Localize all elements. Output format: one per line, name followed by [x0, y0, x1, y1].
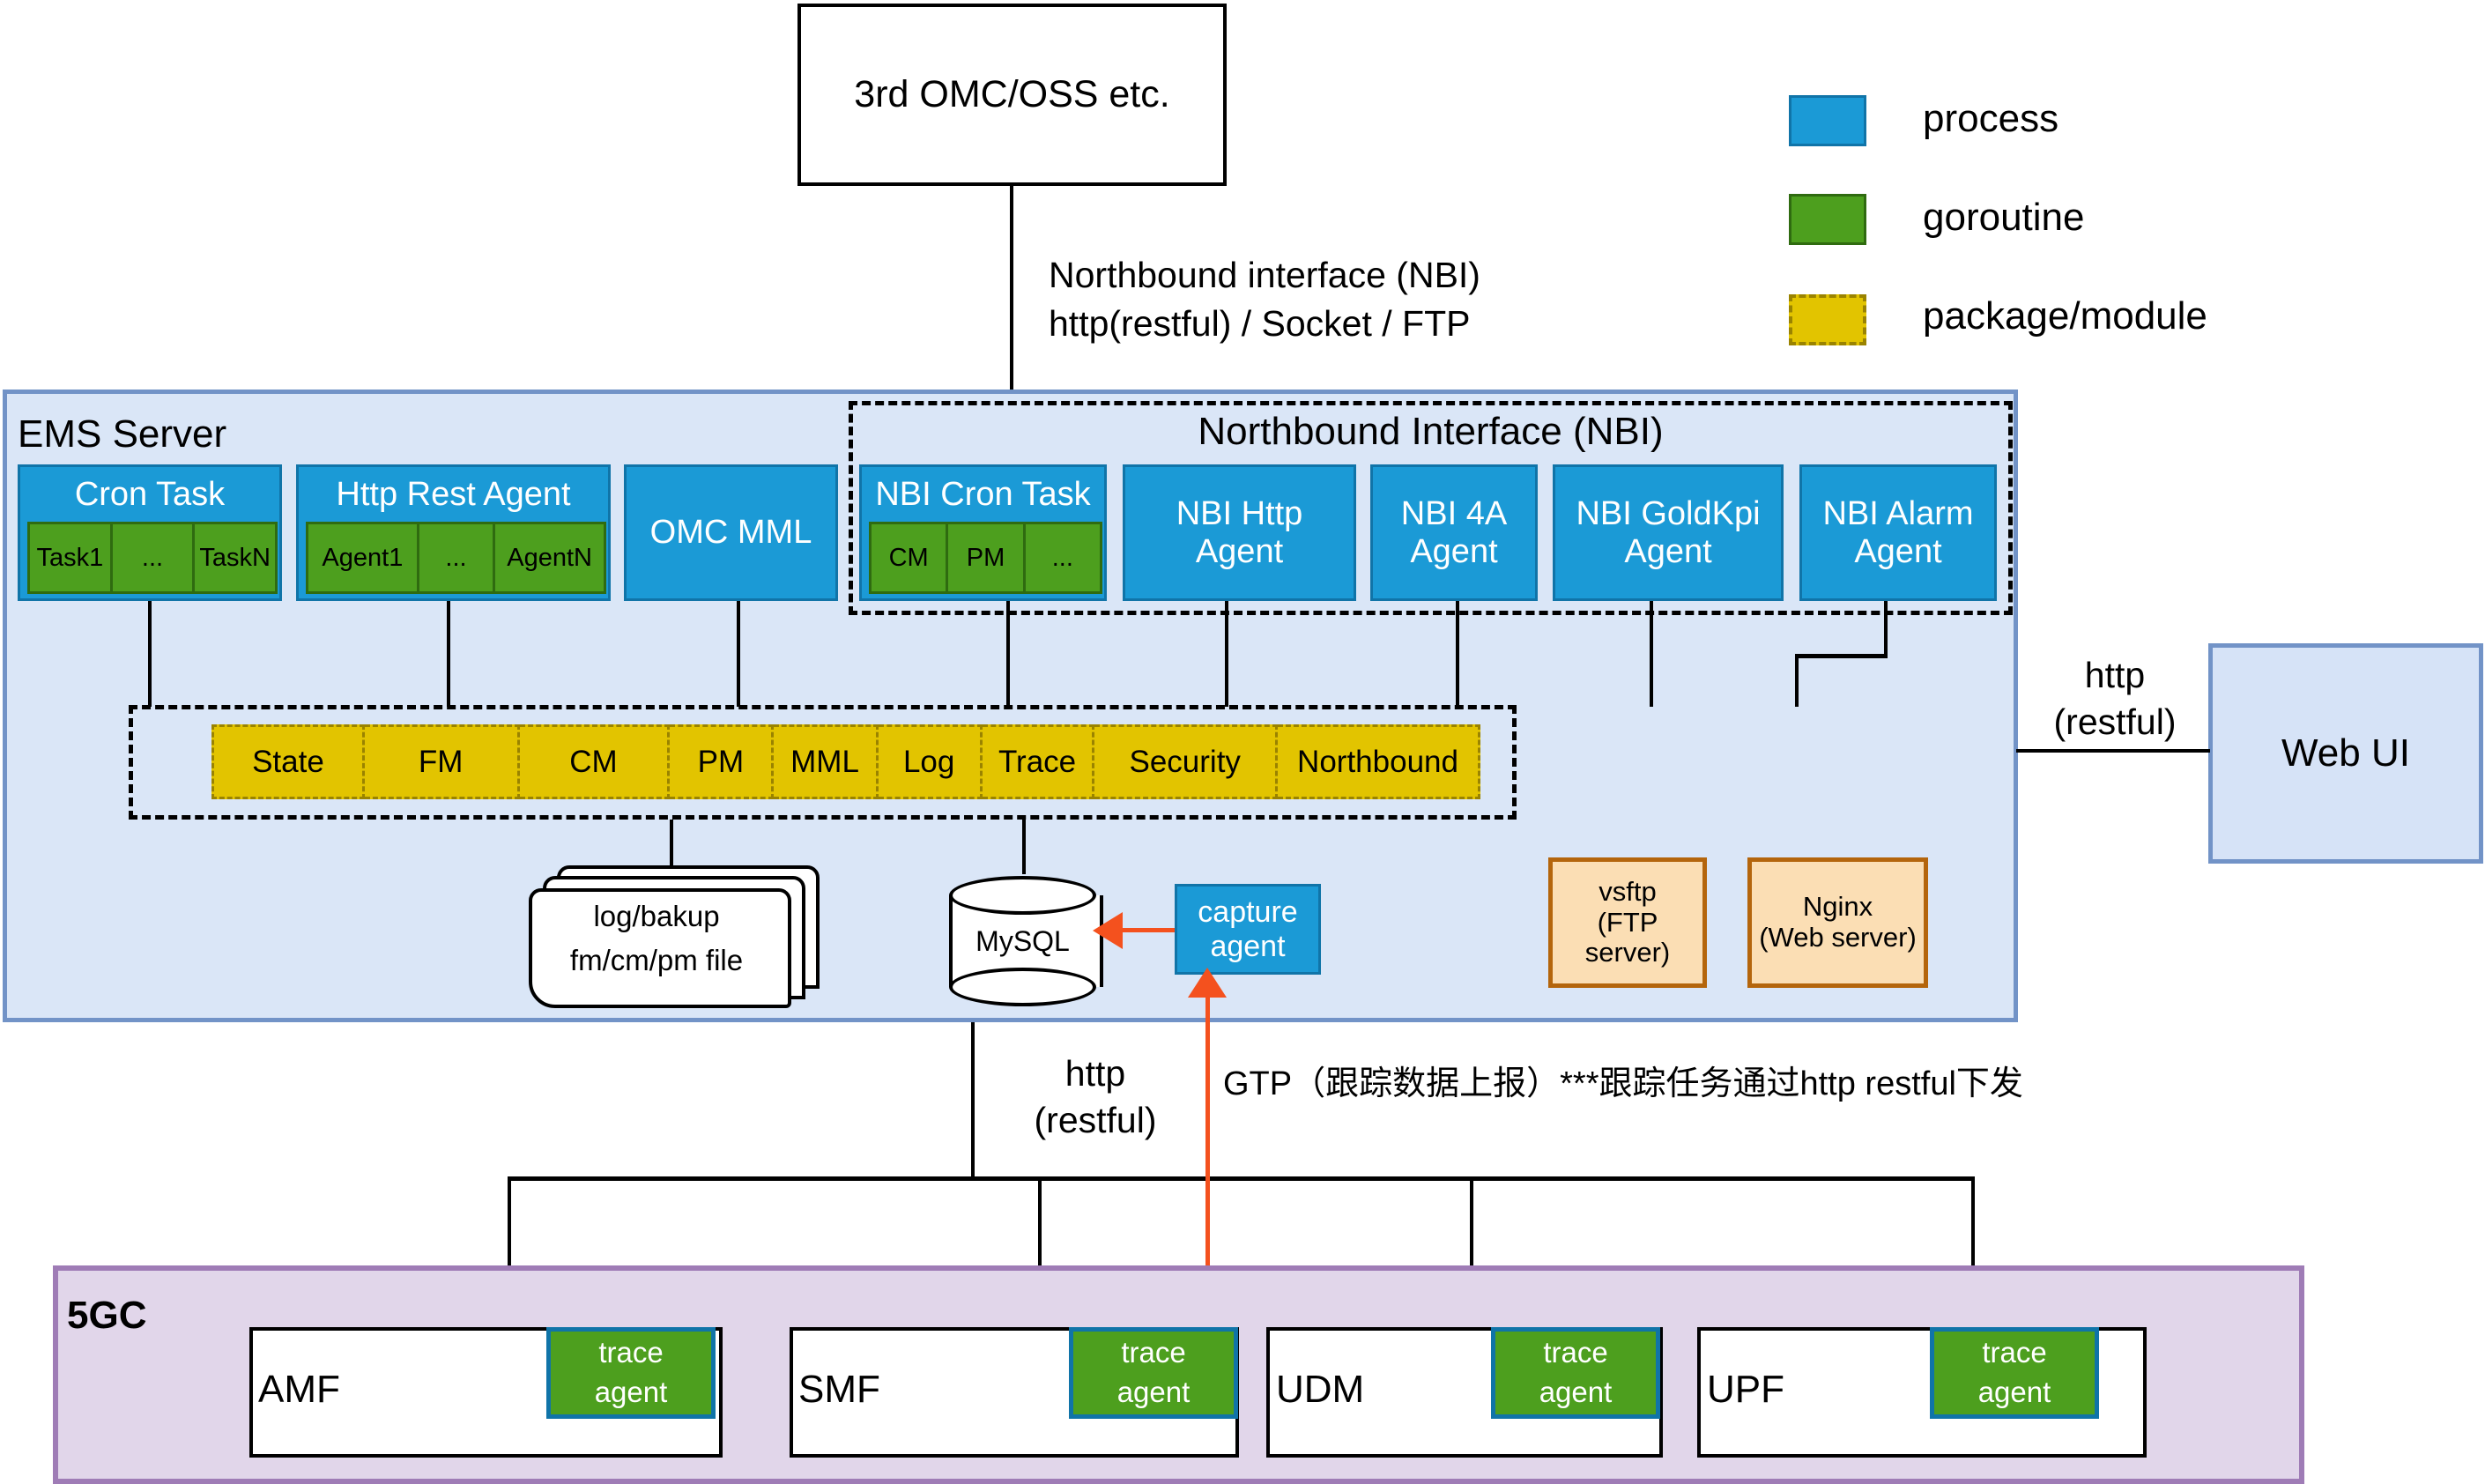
process-nbi-cron-task[interactable]: NBI Cron Task CM PM ...	[859, 464, 1107, 601]
connector-nbi-cron-task	[1006, 601, 1010, 707]
module-northbound[interactable]: Northbound	[1278, 724, 1480, 799]
trace-agent-amf-label: trace agent	[595, 1333, 668, 1412]
connector-nbi-http-agent	[1225, 601, 1228, 707]
trace-agent-amf[interactable]: trace agent	[546, 1327, 716, 1419]
trace-flow-arrowhead	[1188, 968, 1227, 998]
goroutine-item[interactable]: Task1	[27, 522, 113, 594]
server-nginx-role: (Web server)	[1759, 923, 1917, 953]
process-nbi-cron-task-label: NBI Cron Task	[862, 467, 1104, 522]
module-cm[interactable]: CM	[520, 724, 671, 799]
southbound-http-trunk	[971, 1022, 975, 1179]
server-nginx-name: Nginx	[1803, 892, 1873, 923]
goroutine-item[interactable]: CM	[869, 522, 948, 594]
legend-swatch-process	[1789, 95, 1866, 146]
trace-flow-trunk	[1205, 990, 1210, 1272]
web-ui-link-label: http (restful)	[2027, 650, 2203, 747]
process-capture-agent[interactable]: capture agent	[1175, 884, 1321, 975]
process-nbi-alarm-agent[interactable]: NBI Alarm Agent	[1799, 464, 1997, 601]
process-nbi-http-agent-label: NBI Http Agent	[1176, 495, 1303, 570]
trace-agent-upf-label: trace agent	[1978, 1333, 2051, 1412]
trace-agent-udm-label: trace agent	[1539, 1333, 1613, 1412]
southbound-http-label: http (restful)	[1003, 1049, 1188, 1146]
process-nbi-alarm-agent-label: NBI Alarm Agent	[1822, 495, 1973, 570]
module-trace[interactable]: Trace	[983, 724, 1095, 799]
module-bar: State FM CM PM MML Log Trace Security No…	[211, 724, 1480, 799]
process-http-rest-agent[interactable]: Http Rest Agent Agent1 ... AgentN	[296, 464, 611, 601]
connector-omc-mml	[737, 601, 740, 707]
connector-module-to-mysql	[1022, 820, 1026, 874]
server-nginx[interactable]: Nginx (Web server)	[1747, 857, 1928, 988]
fivegc-node-smf-label: SMF	[798, 1368, 880, 1412]
process-omc-mml-label: OMC MML	[650, 514, 812, 552]
goroutine-group-cron-task: Task1 ... TaskN	[27, 522, 278, 594]
process-cron-task[interactable]: Cron Task Task1 ... TaskN	[18, 464, 282, 601]
southbound-bus	[508, 1176, 1975, 1181]
third-party-omc-oss-label: 3rd OMC/OSS etc.	[854, 73, 1169, 115]
module-fm[interactable]: FM	[365, 724, 520, 799]
process-http-rest-agent-label: Http Rest Agent	[299, 467, 608, 522]
process-nbi-4a-agent-label: NBI 4A Agent	[1401, 495, 1507, 570]
process-nbi-http-agent[interactable]: NBI Http Agent	[1123, 464, 1356, 601]
goroutine-item[interactable]: AgentN	[495, 522, 606, 594]
trace-agent-smf[interactable]: trace agent	[1069, 1327, 1238, 1419]
legend: process goroutine package/module	[1789, 88, 2441, 335]
module-log[interactable]: Log	[879, 724, 983, 799]
module-mml[interactable]: MML	[774, 724, 878, 799]
nbi-link-label: Northbound interface (NBI) http(restful)…	[1049, 251, 1480, 349]
server-vsftp-role: (FTP server)	[1553, 908, 1702, 968]
goroutine-item[interactable]: Agent1	[306, 522, 419, 594]
web-ui-label: Web UI	[2281, 731, 2410, 775]
ems-server-title: EMS Server	[18, 412, 226, 456]
connector-log-to-filestack	[670, 820, 673, 872]
connector-cron-task	[148, 601, 152, 707]
connector-nbi-alarm-agent-elbow	[1795, 654, 1888, 658]
server-vsftp[interactable]: vsftp (FTP server)	[1548, 857, 1707, 988]
file-stack-log-backup: log/bakup fm/cm/pm file	[529, 865, 828, 998]
process-omc-mml[interactable]: OMC MML	[624, 464, 838, 601]
module-state[interactable]: State	[211, 724, 365, 799]
gtp-annotation-label: GTP（跟踪数据上报）***跟踪任务通过http restful下发	[1223, 1056, 2023, 1104]
module-security[interactable]: Security	[1094, 724, 1278, 799]
process-nbi-goldkpi-agent[interactable]: NBI GoldKpi Agent	[1553, 464, 1784, 601]
web-ui-box[interactable]: Web UI	[2208, 643, 2483, 864]
nbi-link-line	[1010, 186, 1013, 392]
connector-nbi-4a-agent	[1456, 601, 1459, 707]
legend-swatch-goroutine	[1789, 194, 1866, 245]
process-nbi-goldkpi-agent-label: NBI GoldKpi Agent	[1576, 495, 1760, 570]
trace-agent-udm[interactable]: trace agent	[1491, 1327, 1660, 1419]
module-pm[interactable]: PM	[670, 724, 774, 799]
connector-http-rest-agent	[447, 601, 450, 707]
process-capture-agent-label: capture agent	[1198, 895, 1297, 962]
process-nbi-4a-agent[interactable]: NBI 4A Agent	[1370, 464, 1538, 601]
third-party-omc-oss-box: 3rd OMC/OSS etc.	[797, 4, 1227, 186]
legend-label-package-module: package/module	[1923, 294, 2207, 338]
connector-nbi-alarm-agent-lower	[1795, 654, 1799, 707]
file-stack-label-line1: log/bakup	[529, 899, 784, 934]
fivegc-node-amf-label: AMF	[258, 1368, 340, 1412]
goroutine-item[interactable]: ...	[113, 522, 196, 594]
goroutine-item[interactable]: TaskN	[195, 522, 278, 594]
goroutine-item[interactable]: ...	[1026, 522, 1102, 594]
goroutine-group-nbi-cron-task: CM PM ...	[869, 522, 1102, 594]
architecture-diagram: 3rd OMC/OSS etc. Northbound interface (N…	[0, 0, 2485, 1484]
file-stack-label-line2: fm/cm/pm file	[529, 943, 784, 978]
process-cron-task-label: Cron Task	[20, 467, 279, 522]
connector-nbi-goldkpi-agent	[1650, 601, 1653, 707]
goroutine-group-http-rest-agent: Agent1 ... AgentN	[306, 522, 606, 594]
capture-to-mysql-arrowhead	[1093, 912, 1123, 949]
trace-agent-upf[interactable]: trace agent	[1930, 1327, 2099, 1419]
goroutine-item[interactable]: ...	[419, 522, 495, 594]
database-mysql-label: MySQL	[949, 876, 1096, 1006]
database-mysql: MySQL	[949, 876, 1096, 1006]
trace-agent-smf-label: trace agent	[1117, 1333, 1191, 1412]
capture-to-mysql-line	[1119, 928, 1183, 932]
legend-label-goroutine: goroutine	[1923, 196, 2084, 240]
fivegc-node-upf-label: UPF	[1707, 1368, 1784, 1412]
legend-label-process: process	[1923, 97, 2058, 141]
web-ui-link-line	[2016, 749, 2210, 753]
connector-nbi-alarm-agent-upper	[1884, 601, 1888, 657]
goroutine-item[interactable]: PM	[948, 522, 1025, 594]
nbi-group-title: Northbound Interface (NBI)	[849, 407, 2013, 456]
legend-swatch-package-module	[1789, 294, 1866, 345]
fivegc-node-udm-label: UDM	[1276, 1368, 1364, 1412]
server-vsftp-name: vsftp	[1599, 877, 1656, 908]
fivegc-title: 5GC	[67, 1294, 146, 1338]
